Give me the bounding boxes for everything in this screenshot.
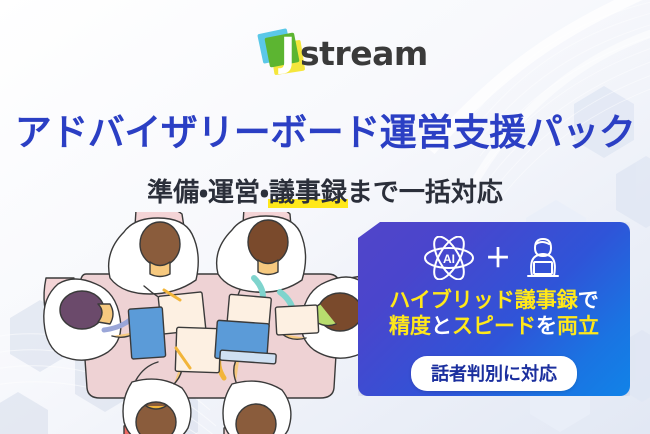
panel-headline: ハイブリッド議事録で 精度とスピードを両立 (358, 288, 630, 341)
page-subtitle: 準備・運営・議事録まで一括対応 (0, 172, 650, 209)
panel-line1-yellow: ハイブリッド議事録 (389, 289, 578, 312)
panel-line-2: 精度とスピードを両立 (358, 314, 630, 340)
panel-line-1: ハイブリッド議事録で (358, 288, 630, 314)
jstream-logo: J stream (258, 26, 418, 82)
atom-ai-icon: AI (422, 236, 476, 280)
panel-icon-row: AI ＋ (358, 234, 630, 282)
panel-line2-a: 精度 (389, 315, 431, 338)
meeting-top-view-illustration (28, 212, 398, 434)
person-laptop-icon (520, 236, 566, 280)
banner-root: J stream アドバイザリーボード運営支援パック 準備・運営・議事録まで一括… (0, 0, 650, 434)
panel-line1-white: で (578, 289, 599, 312)
panel-line2-b: と (431, 315, 452, 338)
panel-line2-c: スピード (452, 315, 536, 338)
hybrid-minutes-panel: AI ＋ ハイブリッド議事録で 精度とスピードを両立 話者判別に対応 (358, 222, 630, 396)
svg-text:AI: AI (443, 252, 455, 266)
panel-line2-e: 両立 (557, 315, 599, 338)
subtitle-after: まで一括対応 (347, 177, 503, 207)
subtitle-before: 準備・運営・ (147, 177, 269, 207)
logo-wordmark: stream (300, 34, 428, 73)
status-badge: 話者判別に対応 (411, 356, 577, 391)
panel-line2-d: を (536, 315, 557, 338)
subtitle-highlight: 議事録 (269, 172, 347, 209)
plus-icon: ＋ (485, 245, 511, 271)
page-title: アドバイザリーボード運営支援パック (0, 102, 650, 156)
